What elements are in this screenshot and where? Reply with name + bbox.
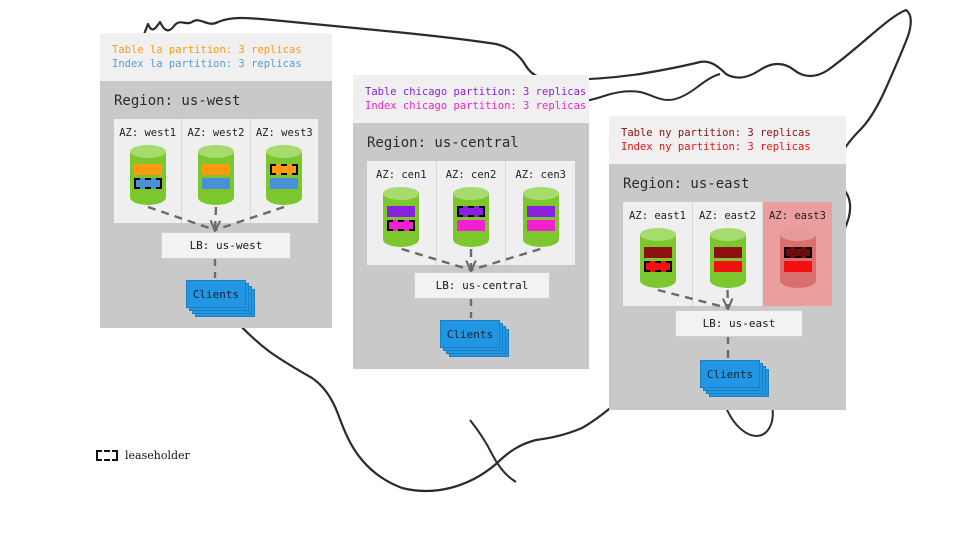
load-balancer-us-west[interactable]: LB: us-west <box>161 232 291 259</box>
clients-label: Clients <box>440 320 500 348</box>
load-balancer-us-east[interactable]: LB: us-east <box>675 310 803 337</box>
clients-us-west[interactable]: Clients <box>186 280 254 316</box>
clients-label: Clients <box>700 360 760 388</box>
dashed-rect-icon <box>96 450 118 461</box>
diagram-canvas: Table la partition: 3 replicasIndex la p… <box>0 0 960 540</box>
clients-us-central[interactable]: Clients <box>440 320 508 356</box>
clients-us-east[interactable]: Clients <box>700 360 768 396</box>
clients-label: Clients <box>186 280 246 308</box>
leaseholder-key: leaseholder <box>96 449 190 462</box>
load-balancer-us-central[interactable]: LB: us-central <box>414 272 550 299</box>
leaseholder-key-label: leaseholder <box>125 449 190 462</box>
